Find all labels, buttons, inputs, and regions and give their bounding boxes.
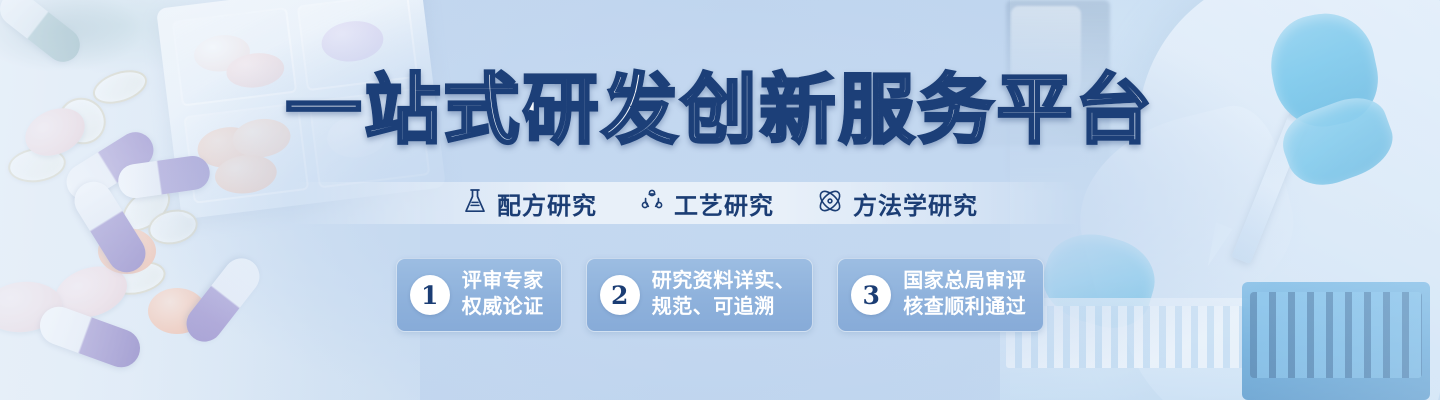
subtitle-item-list: 配方研究 工艺研究 <box>0 186 1440 221</box>
feature-line-2: 核查顺利通过 <box>903 295 1026 321</box>
banner-title: 一站式研发创新服务平台 <box>286 72 1155 148</box>
molecule-icon <box>639 187 665 220</box>
feature-box-1[interactable]: 1 评审专家 权威论证 <box>396 258 562 332</box>
feature-line-2: 权威论证 <box>462 295 544 321</box>
feature-text: 评审专家 权威论证 <box>462 269 544 320</box>
subtitle-item-label: 方法学研究 <box>853 186 978 221</box>
feature-number-badge: 1 <box>410 275 450 315</box>
feature-number-badge: 2 <box>600 275 640 315</box>
atom-icon <box>816 187 844 220</box>
banner-content: 一站式研发创新服务平台 配方研究 <box>0 0 1440 400</box>
feature-line-1: 评审专家 <box>462 269 544 295</box>
promo-banner: 一站式研发创新服务平台 配方研究 <box>0 0 1440 400</box>
flask-icon <box>462 187 488 220</box>
feature-line-1: 研究资料详实、 <box>652 269 796 295</box>
feature-text: 研究资料详实、 规范、可追溯 <box>652 269 796 320</box>
feature-box-3[interactable]: 3 国家总局审评 核查顺利通过 <box>837 258 1044 332</box>
feature-box-list: 1 评审专家 权威论证 2 研究资料详实、 规范、可追溯 3 国家总局审评 核查… <box>0 258 1440 332</box>
feature-line-2: 规范、可追溯 <box>652 295 796 321</box>
feature-number-badge: 3 <box>851 275 891 315</box>
subtitle-item-methodology[interactable]: 方法学研究 <box>816 186 978 221</box>
subtitle-item-label: 工艺研究 <box>674 186 774 221</box>
feature-line-1: 国家总局审评 <box>903 269 1026 295</box>
subtitle-item-process[interactable]: 工艺研究 <box>639 186 774 221</box>
subtitle-item-formulation[interactable]: 配方研究 <box>462 186 597 221</box>
feature-box-2[interactable]: 2 研究资料详实、 规范、可追溯 <box>586 258 814 332</box>
subtitle-item-label: 配方研究 <box>497 186 597 221</box>
feature-text: 国家总局审评 核查顺利通过 <box>903 269 1026 320</box>
